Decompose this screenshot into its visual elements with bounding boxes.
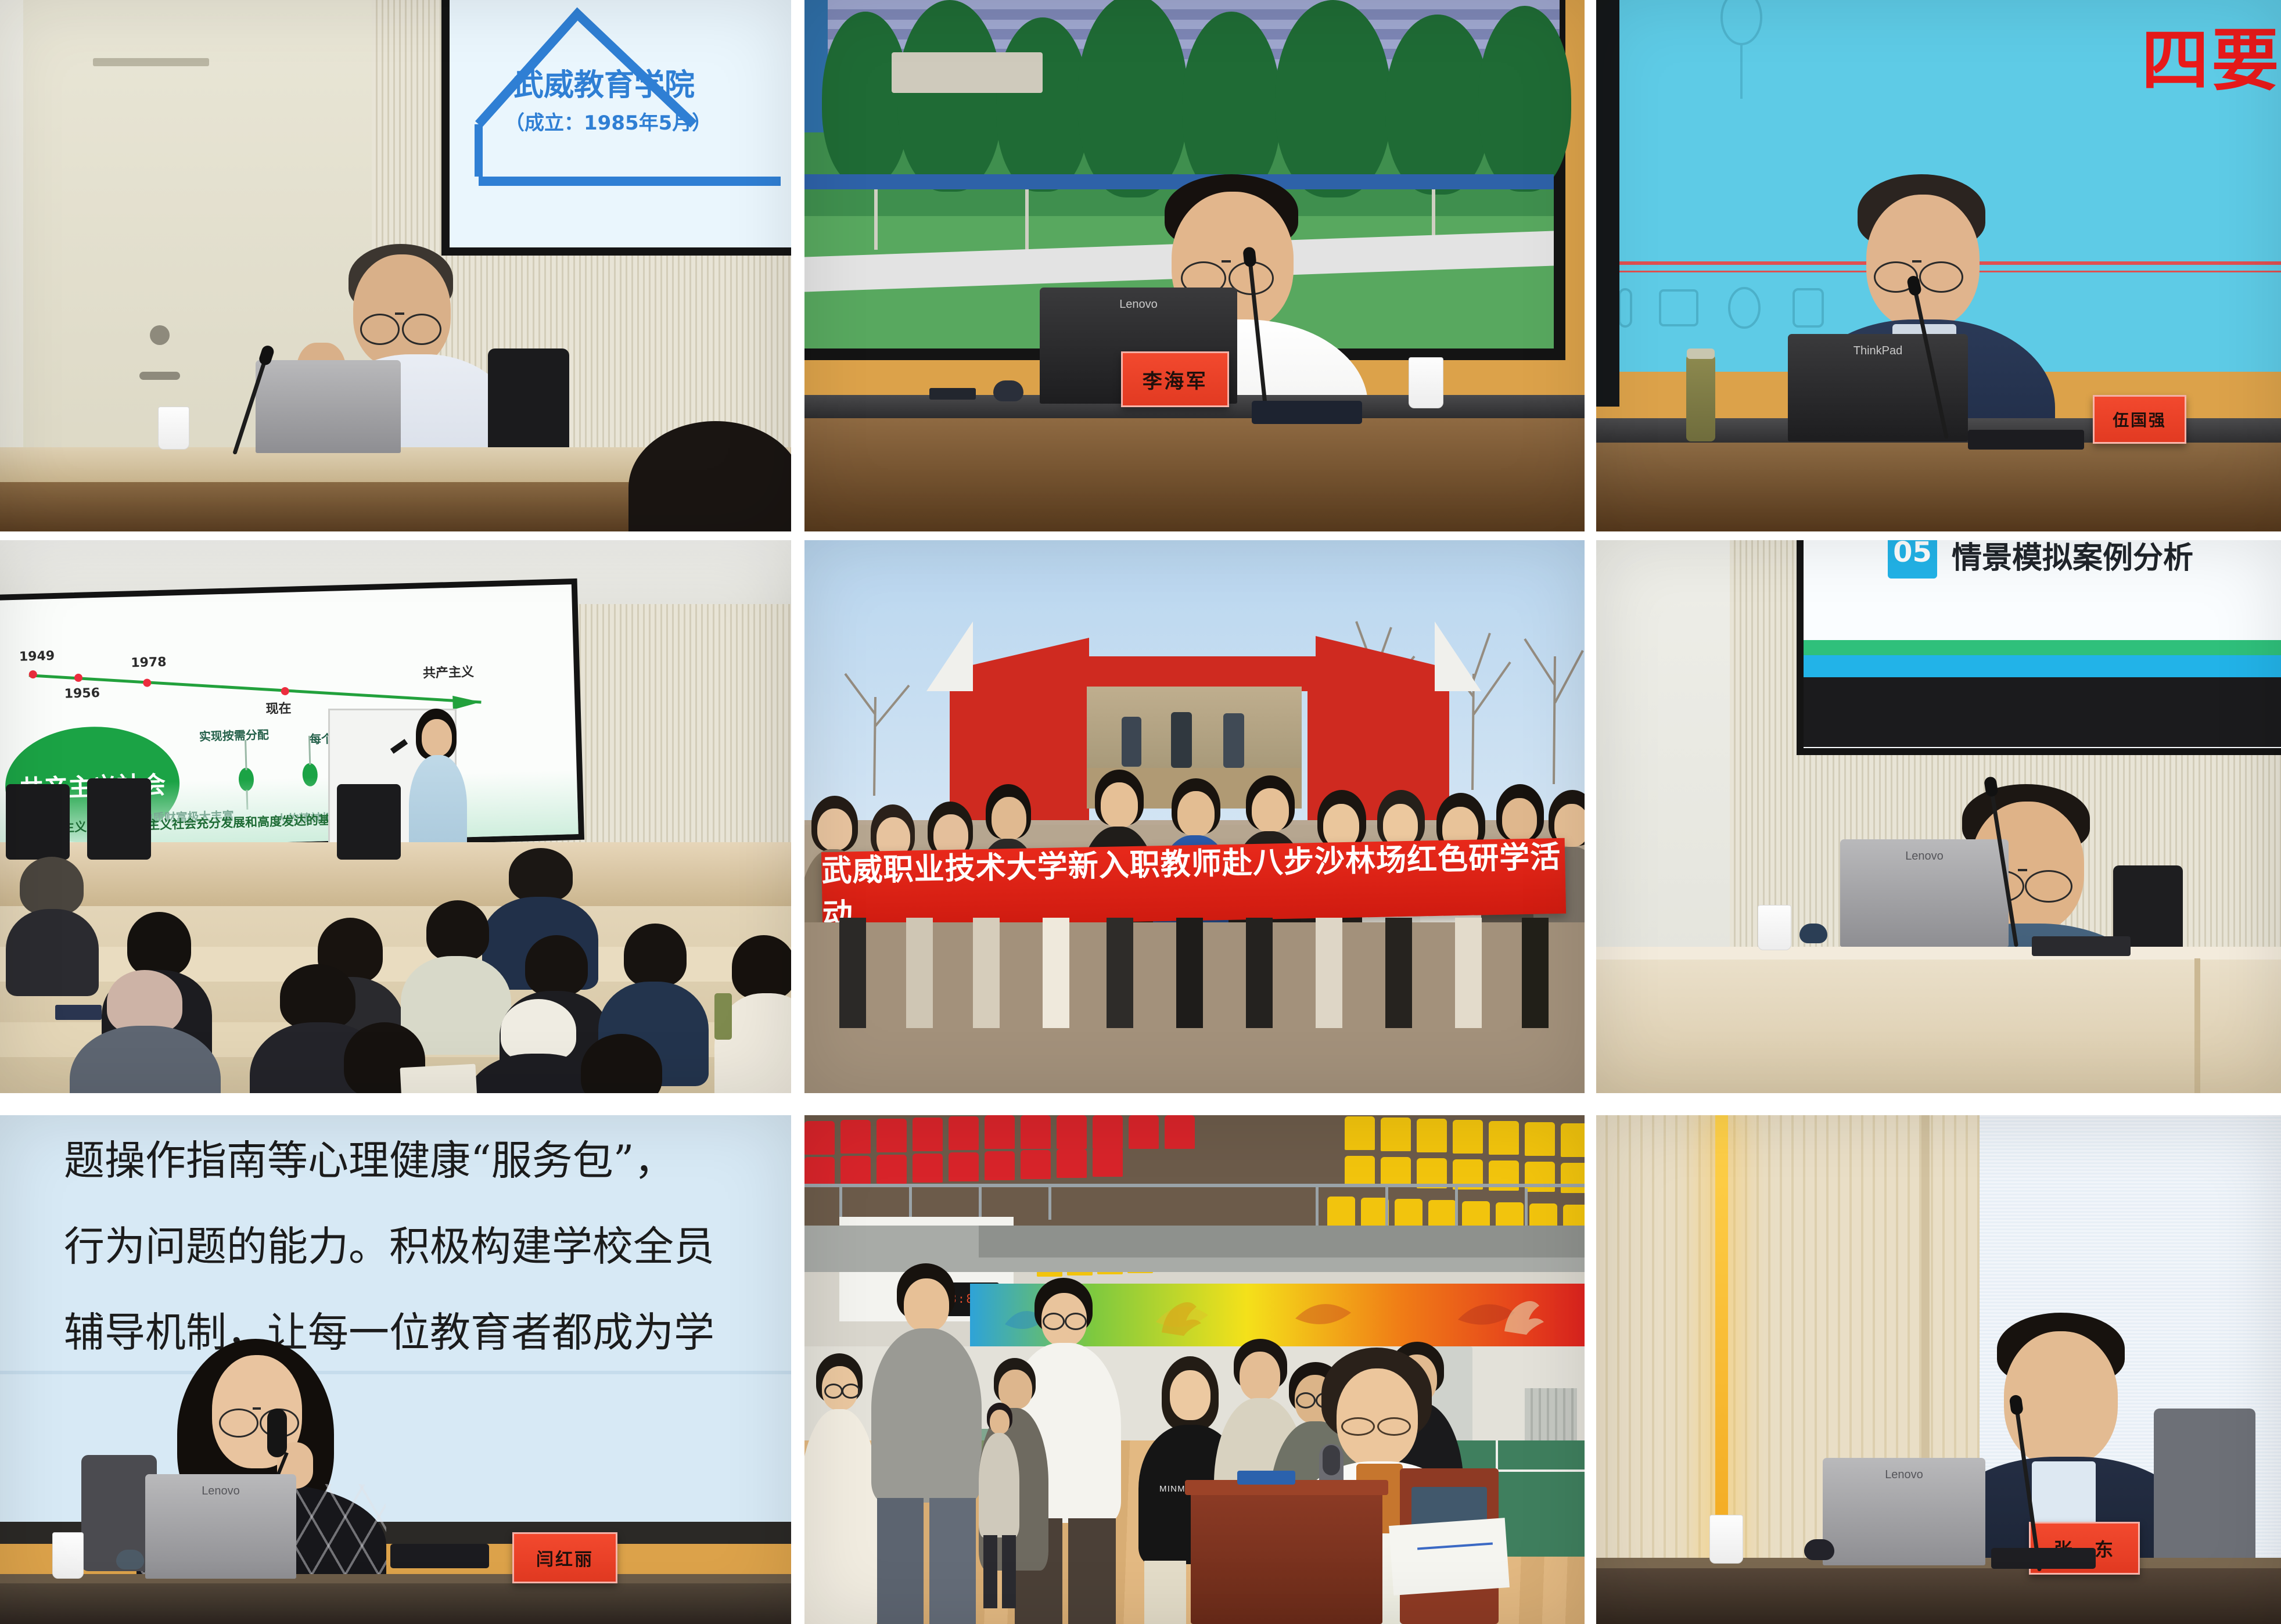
laptop: Lenovo [1823,1458,1985,1565]
slide-point-1: 实现按需分配 [199,725,269,744]
laptop-brand-label: Lenovo [1885,1468,1923,1482]
photo-panel-4[interactable]: 1949 1956 1978 现在 共产主义 共产主义社会 实现按需分配 每个人… [0,540,791,1093]
laptop-brand-label: Lenovo [202,1485,240,1498]
warm-light-strip [1715,1115,1728,1574]
slide-line-2: 行为问题的能力。积极构建学校全员 [64,1214,714,1273]
slide-heading: 四要 [2142,6,2281,103]
photo-panel-3[interactable]: 四要 [1596,0,2281,531]
presentation-screen: 武威教育学院 （成立：1985年5月） [441,0,791,256]
timeline-label-now: 现在 [265,698,292,717]
slide-line-1: 题操作指南等心理健康“服务包”， [64,1128,675,1187]
slide-number-badge: 05 [1888,540,1937,579]
laptop [256,360,401,453]
paper-cup [1758,905,1791,950]
photo-panel-9[interactable]: Lenovo 张 东 [1596,1115,2281,1624]
led-screen: 05 情景模拟案例分析 [1797,540,2281,755]
timeline-label-communism: 共产主义 [422,662,474,681]
laptop: Lenovo [145,1474,296,1579]
laptop-brand-label: ThinkPad [1853,344,1903,358]
laptop-brand-label: Lenovo [1119,298,1158,311]
timeline-label-1956: 1956 [64,686,100,702]
conference-desk [0,1580,791,1624]
thermos [1686,354,1715,441]
paper-cup [52,1532,84,1579]
laptop: ThinkPad [1788,334,1968,441]
slide-heading: 武威教育学院 [513,60,695,104]
photo-panel-6[interactable]: 05 情景模拟案例分析 Lenovo [1596,540,2281,1093]
photo-panel-7[interactable]: 题操作指南等心理健康“服务包”， 行为问题的能力。积极构建学校全员 辅导机制，让… [0,1115,791,1624]
event-banner: 武威职业技术大学新入职教师赴八步沙林场红色研学活动 [821,838,1566,928]
photo-panel-1[interactable]: 武威教育学院 （成立：1985年5月） [0,0,791,531]
conference-desk [1596,1565,2281,1624]
name-card: 伍国强 [2093,395,2186,444]
paper-cup [158,407,189,450]
spoon-icon [1672,0,1823,110]
laptop: Lenovo [1840,839,2009,947]
name-card: 李海军 [1121,351,1229,407]
podium [1191,1487,1382,1624]
photo-collage: 武威教育学院 （成立：1985年5月） [0,0,2281,1624]
paper-cup [1409,357,1443,408]
name-card: 闫红丽 [512,1532,617,1583]
slide-subheading: （成立：1985年5月） [505,107,712,135]
slide-heading: 情景模拟案例分析 [1952,540,2193,577]
photo-panel-8[interactable]: 88:88 [804,1115,1585,1624]
paper-cup [1709,1515,1743,1564]
timeline-label-1949: 1949 [19,649,55,664]
photo-panel-5[interactable]: 武威职业技术大学新入职教师赴八步沙林场红色研学活动 [804,540,1585,1093]
railing-upper [804,1184,1585,1187]
conference-desk [1596,947,2281,1093]
papers [1389,1518,1510,1596]
photo-panel-2[interactable]: Lenovo 李海军 [804,0,1585,531]
timeline-label-1978: 1978 [131,655,167,671]
laptop-brand-label: Lenovo [1905,850,1944,863]
